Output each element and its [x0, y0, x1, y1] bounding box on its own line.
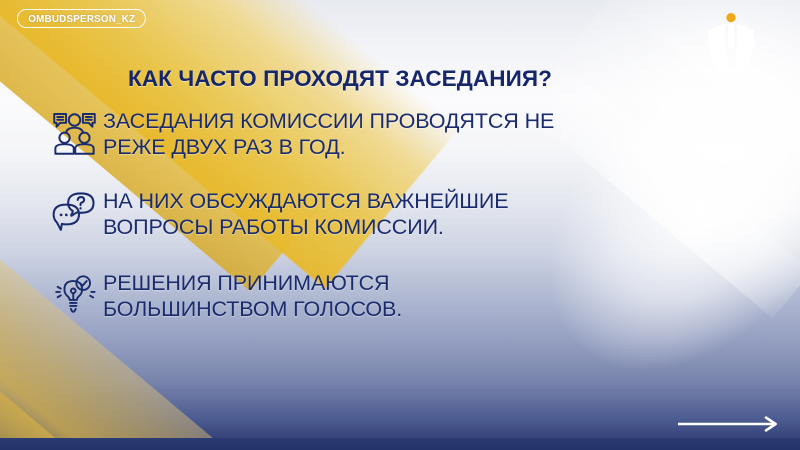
list-item: РЕШЕНИЯ ПРИНИМАЮТСЯ БОЛЬШИНСТВОМ ГОЛОСОВ… — [45, 270, 745, 322]
list-item-line: НА НИХ ОБСУЖДАЮТСЯ ВАЖНЕЙШИЕ — [103, 189, 508, 215]
list-item: ЗАСЕДАНИЯ КОМИССИИ ПРОВОДЯТСЯ НЕ РЕЖЕ ДВ… — [45, 108, 745, 160]
list-item-line: БОЛЬШИНСТВОМ ГОЛОСОВ. — [103, 297, 402, 323]
list-item-line: ЗАСЕДАНИЯ КОМИССИИ ПРОВОДЯТСЯ НЕ — [103, 109, 554, 135]
channel-badge-label: OMBUDSPERSON_KZ — [28, 13, 135, 25]
page-title: КАК ЧАСТО ПРОХОДЯТ ЗАСЕДАНИЯ? — [128, 66, 688, 92]
list-item-line: РЕШЕНИЯ ПРИНИМАЮТСЯ — [103, 271, 402, 297]
list-item-text: НА НИХ ОБСУЖДАЮТСЯ ВАЖНЕЙШИЕ ВОПРОСЫ РАБ… — [103, 188, 508, 240]
slide-canvas: OMBUDSPERSON_KZ КАК ЧАСТ — [0, 0, 800, 450]
emblem-gold-dot — [726, 13, 735, 22]
list-item-line: РЕЖЕ ДВУХ РАЗ В ГОД. — [103, 135, 554, 161]
bullet-list: ЗАСЕДАНИЯ КОМИССИИ ПРОВОДЯТСЯ НЕ РЕЖЕ ДВ… — [45, 108, 745, 322]
bottom-band — [0, 438, 800, 450]
list-item-line: ВОПРОСЫ РАБОТЫ КОМИССИИ. — [103, 215, 508, 241]
list-item-text: ЗАСЕДАНИЯ КОМИССИИ ПРОВОДЯТСЯ НЕ РЕЖЕ ДВ… — [103, 108, 554, 160]
lightbulb-check-icon — [45, 270, 103, 316]
group-discussion-icon — [45, 108, 103, 156]
ombudsperson-emblem-icon — [700, 12, 762, 82]
list-item-text: РЕШЕНИЯ ПРИНИМАЮТСЯ БОЛЬШИНСТВОМ ГОЛОСОВ… — [103, 270, 402, 322]
list-item: НА НИХ ОБСУЖДАЮТСЯ ВАЖНЕЙШИЕ ВОПРОСЫ РАБ… — [45, 188, 745, 240]
channel-badge: OMBUDSPERSON_KZ — [17, 9, 146, 28]
arrow-right-icon[interactable] — [676, 415, 780, 433]
question-chat-icon — [45, 188, 103, 232]
